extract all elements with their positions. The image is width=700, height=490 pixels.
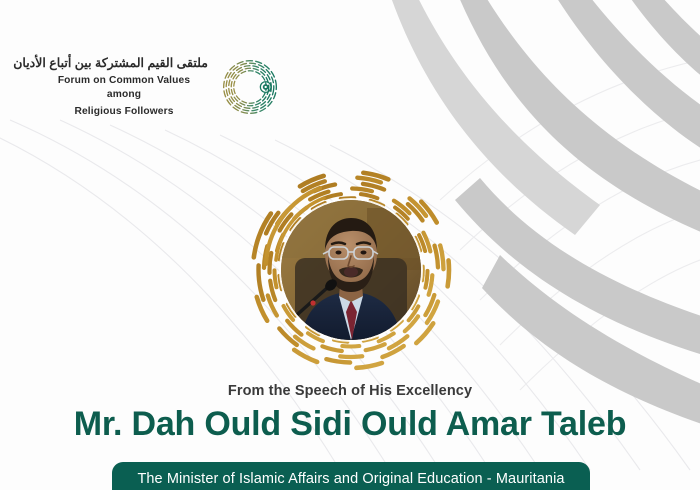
brand-logo: ملتقى القيم المشتركة بين أتباع الأديان F… <box>40 55 278 119</box>
speaker-portrait <box>248 168 453 373</box>
brand-logo-english-line1: Forum on Common Values among <box>40 74 208 103</box>
speaker-title-banner: The Minister of Islamic Affairs and Orig… <box>112 462 590 490</box>
brand-logo-arabic: ملتقى القيم المشتركة بين أتباع الأديان <box>40 55 208 72</box>
speaker-name: Mr. Dah Ould Sidi Ould Amar Taleb <box>0 405 700 444</box>
brand-logo-english-line2: Religious Followers <box>40 105 208 119</box>
speech-quote-card: ملتقى القيم المشتركة بين أتباع الأديان F… <box>0 0 700 490</box>
speaker-title-text: The Minister of Islamic Affairs and Orig… <box>137 471 564 487</box>
speech-eyebrow-label: From the Speech of His Excellency <box>0 383 700 399</box>
speaker-photo <box>281 200 421 340</box>
concentric-rings-logo-icon <box>222 59 278 115</box>
brand-logo-text: ملتقى القيم المشتركة بين أتباع الأديان F… <box>40 55 208 119</box>
